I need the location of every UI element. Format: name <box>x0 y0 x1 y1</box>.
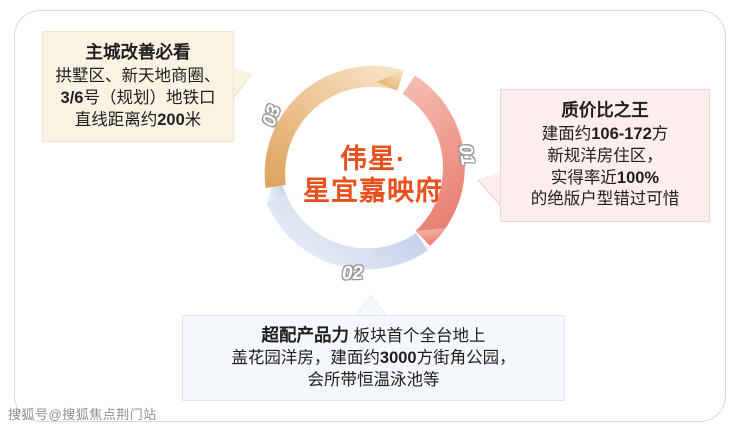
callout-right-line-2: 新规洋房住区， <box>509 146 701 168</box>
callout-right-tail <box>478 172 502 206</box>
callout-left-line-3: 直线距离约200米 <box>53 110 223 132</box>
callout-right-heading: 质价比之王 <box>509 99 701 122</box>
callout-bottom-heading: 超配产品力 <box>261 325 349 345</box>
callout-right-line-4: 的绝版户型错过可惜 <box>509 189 701 211</box>
callout-left-line-2: 3/6号（规划）地铁口 <box>53 88 223 110</box>
callout-bottom-line-2-pre: 盖花园洋房，建面约 <box>231 349 380 367</box>
callout-bottom-line-3: 会所带恒温泳池等 <box>193 370 554 392</box>
infographic-canvas: 伟星· 星宜嘉映府 01 02 03 主城改善必看 拱墅区、新天地商圈、 3/6… <box>0 0 740 435</box>
callout-left-line-1-text: 拱墅区、新天地商圈、 <box>56 67 221 85</box>
callout-bottom-line-2-bold: 3000 <box>380 349 417 367</box>
callout-right-line-1: 建面约106-172方 <box>509 124 701 146</box>
ring-segment-02 <box>267 174 428 269</box>
callout-bottom-product: 超配产品力 板块首个全台地上 盖花园洋房，建面约3000方街角公园， 会所带恒温… <box>182 315 565 401</box>
callout-right-value: 质价比之王 建面约106-172方 新规洋房住区， 实得率近100% 的绝版户型… <box>500 89 710 222</box>
callout-left-line-3-bold: 200 <box>157 111 185 129</box>
callout-bottom-line-1: 超配产品力 板块首个全台地上 <box>193 324 554 348</box>
ring-segment-number-02: 02 <box>342 263 364 286</box>
callout-bottom-line-1-rest: 板块首个全台地上 <box>354 327 486 345</box>
callout-left-line-3-post: 米 <box>185 111 202 129</box>
callout-right-line-1-post: 方 <box>652 125 669 143</box>
source-watermark: 搜狐号@搜狐焦点荆门站 <box>8 404 157 423</box>
callout-right-line-1-bold: 106-172 <box>591 125 652 143</box>
ring-segment-03 <box>265 66 404 188</box>
callout-bottom-line-2: 盖花园洋房，建面约3000方街角公园， <box>193 348 554 370</box>
callout-bottom-tail <box>355 296 387 317</box>
callout-right-line-3-bold: 100% <box>617 169 659 187</box>
callout-left-line-2-bold: 3/6 <box>61 89 84 107</box>
callout-bottom-line-2-post: 方街角公园， <box>417 349 516 367</box>
callout-left-line-1: 拱墅区、新天地商圈、 <box>53 66 223 88</box>
callout-right-line-1-pre: 建面约 <box>542 125 592 143</box>
callout-left-line-2-rest: 号（规划）地铁口 <box>83 89 215 107</box>
callout-right-line-3: 实得率近100% <box>509 168 701 190</box>
callout-left-line-3-pre: 直线距离约 <box>75 111 158 129</box>
callout-left-heading: 主城改善必看 <box>53 41 223 64</box>
ring-segment-number-01: 01 <box>453 143 478 167</box>
callout-left-location: 主城改善必看 拱墅区、新天地商圈、 3/6号（规划）地铁口 直线距离约200米 <box>42 31 234 142</box>
callout-right-line-3-pre: 实得率近 <box>551 169 617 187</box>
cycle-ring-diagram <box>249 52 497 300</box>
